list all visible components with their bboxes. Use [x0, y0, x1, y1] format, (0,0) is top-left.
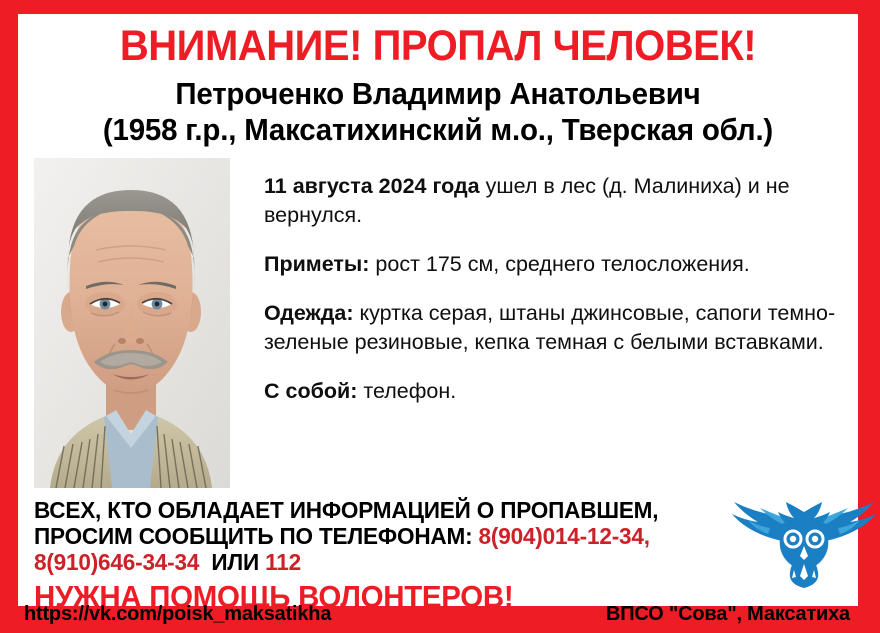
call-to-action-block: ВСЕХ, КТО ОБЛАДАЕТ ИНФОРМАЦИЕЙ О ПРОПАВШ…: [34, 497, 734, 615]
cta-line-1: ВСЕХ, КТО ОБЛАДАЕТ ИНФОРМАЦИЕЙ О ПРОПАВШ…: [34, 497, 706, 523]
appearance-text: рост 175 см, среднего телосложения.: [369, 252, 749, 276]
person-details: (1958 г.р., Максатихинский м.о., Тверска…: [39, 112, 837, 148]
belongings-label: С собой:: [264, 379, 357, 403]
poster-sheet: ВНИМАНИЕ! ПРОПАЛ ЧЕЛОВЕК! Петроченко Вла…: [18, 14, 858, 606]
cta-line-2: ПРОСИМ СООБЩИТЬ ПО ТЕЛЕФОНАМ: 8(904)014-…: [34, 523, 706, 549]
page-title: ВНИМАНИЕ! ПРОПАЛ ЧЕЛОВЕК!: [47, 22, 828, 70]
appearance-label: Приметы:: [264, 252, 369, 276]
cta-line-3: 8(910)646-34-34 ИЛИ 112: [34, 549, 706, 575]
belongings-text: телефон.: [357, 379, 456, 403]
missing-person-poster: ВНИМАНИЕ! ПРОПАЛ ЧЕЛОВЕК! Петроченко Вла…: [0, 0, 880, 633]
clothing-label: Одежда:: [264, 301, 354, 325]
or-label: ИЛИ: [211, 549, 259, 575]
circumstances-date: 11 августа 2024 года: [264, 174, 480, 198]
clothing-paragraph: Одежда: куртка серая, штаны джинсовые, с…: [264, 299, 850, 357]
cta-phones-label: ПРОСИМ СООБЩИТЬ ПО ТЕЛЕФОНАМ:: [34, 523, 479, 549]
belongings-paragraph: С собой: телефон.: [264, 377, 850, 406]
circumstances-paragraph: 11 августа 2024 года ушел в лес (д. Мали…: [264, 172, 850, 230]
owl-icon: [730, 484, 878, 592]
footer: https://vk.com/poisk_maksatikha ВПСО "Со…: [18, 600, 858, 628]
appearance-paragraph: Приметы: рост 175 см, среднего телосложе…: [264, 250, 850, 279]
person-name: Петроченко Владимир Анатольевич: [39, 76, 837, 112]
vk-link[interactable]: https://vk.com/poisk_maksatikha: [24, 603, 331, 626]
phone-number-1[interactable]: 8(904)014-12-34,: [479, 523, 650, 549]
missing-person-photo: [20, 154, 242, 492]
description-block: 11 августа 2024 года ушел в лес (д. Мали…: [264, 172, 850, 406]
phone-number-emergency[interactable]: 112: [265, 549, 301, 575]
phone-number-2[interactable]: 8(910)646-34-34: [34, 549, 199, 575]
organization-name: ВПСО "Сова", Максатиха: [606, 603, 850, 626]
